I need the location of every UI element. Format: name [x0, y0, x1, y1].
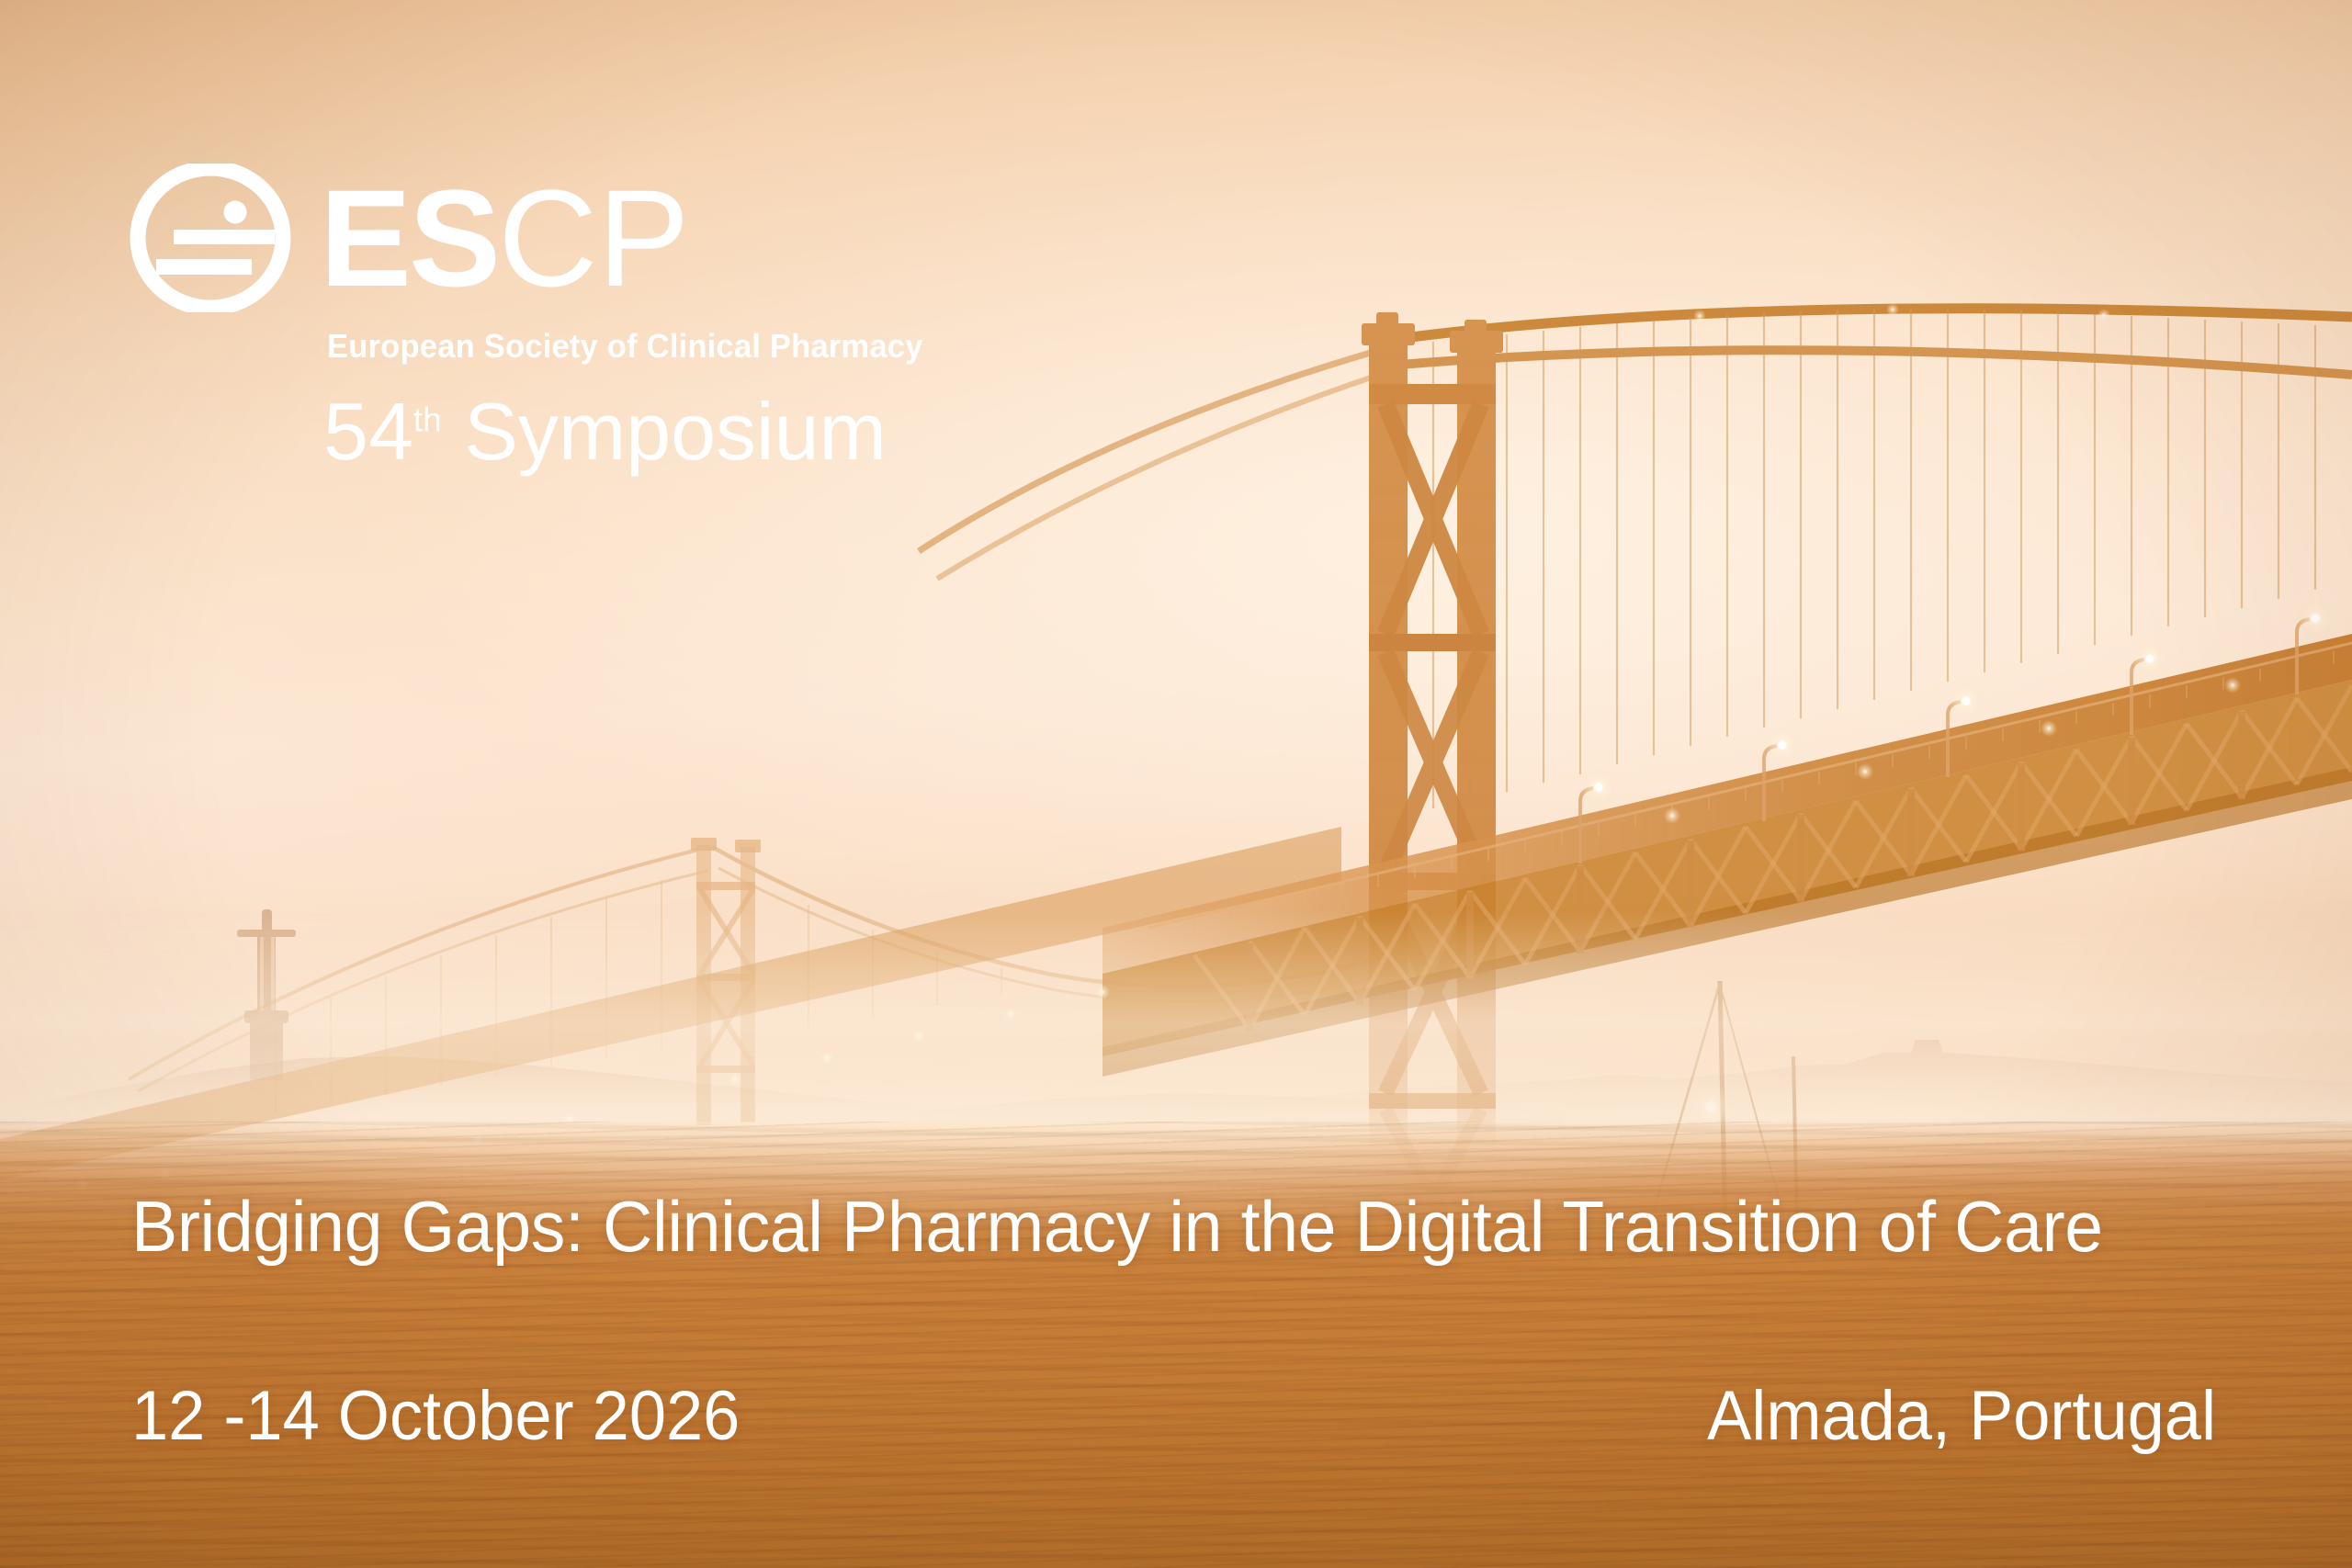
- wordmark-bold: ES: [320, 173, 498, 304]
- edition-ordinal: th: [413, 401, 442, 439]
- edition-word: Symposium: [464, 386, 887, 477]
- event-dates: 12 -14 October 2026: [131, 1376, 740, 1456]
- escp-logo-block[interactable]: ESCP European Society of Clinical Pharma…: [129, 164, 948, 472]
- event-location: Almada, Portugal: [1707, 1376, 2216, 1456]
- escp-oval-e-logo-icon: [129, 164, 292, 312]
- society-tagline: European Society of Clinical Pharmacy: [327, 327, 923, 366]
- wordmark-light: CP: [498, 173, 689, 304]
- event-theme: Bridging Gaps: Clinical Pharmacy in the …: [131, 1185, 2103, 1269]
- escp-wordmark: ESCP: [320, 173, 689, 304]
- edition-number: 54: [323, 386, 413, 477]
- symposium-edition: 54th Symposium: [323, 391, 948, 472]
- poster-canvas: ESCP European Society of Clinical Pharma…: [0, 0, 2352, 1568]
- logo-row: ESCP: [129, 164, 948, 312]
